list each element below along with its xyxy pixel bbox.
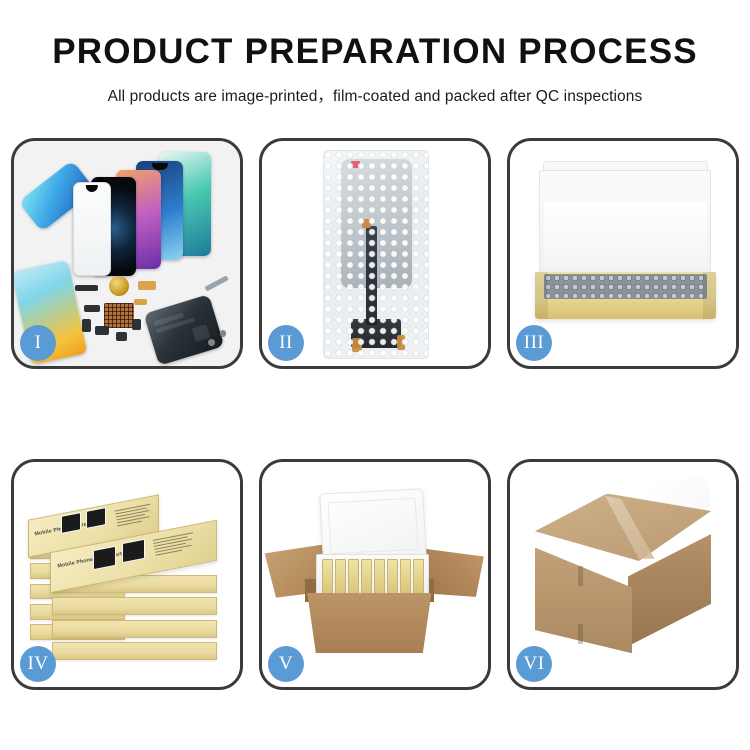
- yellow-box-tray: [535, 272, 716, 319]
- step-panel-3: III: [507, 138, 739, 369]
- step-panel-5: V: [259, 459, 491, 690]
- step-badge-6: VI: [516, 646, 552, 682]
- tweezers-tool: [204, 275, 228, 291]
- screw-part: [208, 339, 215, 346]
- copper-mesh-part: [104, 303, 133, 328]
- tray-left-lip: [535, 272, 548, 319]
- phone-notch-icon: [152, 163, 168, 170]
- inner-box-slab: [52, 642, 217, 660]
- carton-seam-mark: [578, 566, 584, 586]
- foam-box-lid: [319, 489, 426, 564]
- inner-box: [413, 559, 424, 596]
- box-artwork-phone: [93, 545, 116, 570]
- flex-cable-part: [134, 299, 148, 306]
- step-badge-1: I: [20, 325, 56, 361]
- inner-box-slab: [52, 597, 217, 615]
- button-part: [116, 332, 127, 341]
- step-panel-1: I: [11, 138, 243, 369]
- screw-part: [220, 330, 227, 337]
- bubble-texture: [324, 151, 428, 358]
- step-panel-2: II: [259, 138, 491, 369]
- bracket-part: [84, 305, 100, 312]
- inner-box: [361, 559, 372, 596]
- yellow-boxes-inside: [322, 559, 424, 596]
- phone-back-housing: [143, 294, 224, 365]
- speaker-part: [95, 326, 109, 335]
- carton-seam-mark: [578, 624, 584, 644]
- inner-box: [400, 559, 411, 596]
- phone-glass-protector: [73, 182, 111, 277]
- step-panel-6: VI: [507, 459, 739, 690]
- battery-connector-part: [132, 319, 141, 330]
- page-subtitle: All products are image-printed，film-coat…: [0, 84, 750, 106]
- inner-box: [387, 559, 398, 596]
- step-badge-5: V: [268, 646, 304, 682]
- step-panel-4: Mobile Phone Spare Parts Mobile Phone Sp…: [11, 459, 243, 690]
- tray-right-lip: [703, 272, 716, 319]
- step-badge-4: IV: [20, 646, 56, 682]
- process-steps-grid: I II: [11, 138, 739, 690]
- header: PRODUCT PREPARATION PROCESS All products…: [0, 0, 750, 106]
- inner-box-slab: [52, 620, 217, 638]
- product-preparation-infographic: PRODUCT PREPARATION PROCESS All products…: [0, 0, 750, 750]
- connector-part: [75, 285, 98, 291]
- phone-notch-icon: [86, 185, 98, 192]
- vibration-motor-part: [109, 276, 129, 296]
- inner-box: [348, 559, 359, 596]
- carton-front-face: [535, 548, 632, 654]
- step-badge-3: III: [516, 325, 552, 361]
- inner-box: [322, 559, 333, 596]
- box-artwork-phone: [61, 512, 81, 534]
- foam-liner: [544, 202, 707, 276]
- inner-box: [374, 559, 385, 596]
- bubble-wrapped-contents: [544, 274, 707, 299]
- flex-cable-part: [138, 281, 156, 290]
- camera-module-part: [82, 319, 91, 333]
- inner-box: [335, 559, 346, 596]
- page-title: PRODUCT PREPARATION PROCESS: [0, 34, 750, 69]
- carton-front-wall: [307, 593, 431, 654]
- bubble-wrap-bag: [323, 150, 429, 359]
- step-badge-2: II: [268, 325, 304, 361]
